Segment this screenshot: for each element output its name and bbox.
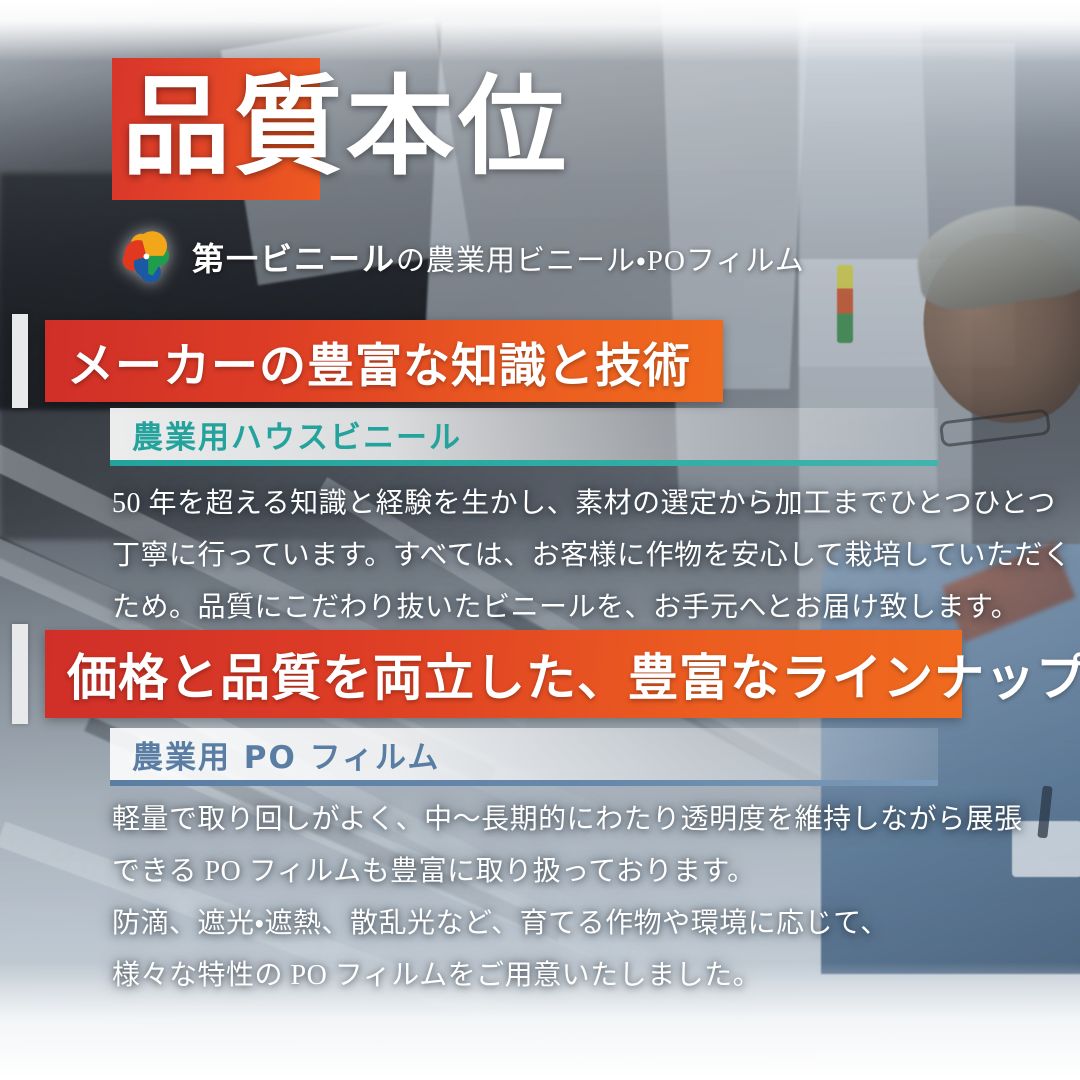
promo-content: 品質本位 第一ビニールの農業用ビニール・POフィルム メーカー bbox=[0, 0, 1080, 1080]
subsection-header-po-film: 農業用 PO フィルム bbox=[110, 728, 938, 780]
section-body-po-film: 軽量で取り回しがよく、中〜長期的にわたり透明度を維持しながら展張 できる PO … bbox=[112, 794, 974, 1002]
title-text: 品質本位 bbox=[112, 58, 570, 200]
body-line: 丁寧に行っています。すべては、お客様に作物を安心して栽培していただく bbox=[112, 530, 974, 582]
section-banner-lineup: 価格と品質を両立した、豊富なラインナップ bbox=[45, 630, 962, 718]
body-line: ため。品質にこだわり抜いたビニールを、お手元へとお届け致します。 bbox=[112, 582, 974, 634]
body-line: できる PO フィルムも豊富に取り扱っております。 bbox=[112, 846, 974, 898]
banner-tick-mark bbox=[12, 314, 28, 408]
brand-line: 第一ビニールの農業用ビニール・POフィルム bbox=[118, 228, 805, 286]
section-banner-label: メーカーの豊富な知識と技術 bbox=[45, 327, 691, 396]
banner-tick-mark bbox=[12, 624, 28, 724]
section-banner-label: 価格と品質を両立した、豊富なラインナップ bbox=[45, 638, 1080, 710]
page-title: 品質本位 bbox=[112, 58, 570, 200]
subsection-underline-blue bbox=[110, 780, 938, 786]
subsection-header-house-vinyl: 農業用ハウスビニール bbox=[110, 408, 938, 460]
body-line: 防滴、遮光・遮熱、散乱光など、育てる作物や環境に応じて、 bbox=[112, 898, 974, 950]
promo-banner-canvas: 品質本位 第一ビニールの農業用ビニール・POフィルム メーカー bbox=[0, 0, 1080, 1080]
section-banner-knowledge: メーカーの豊富な知識と技術 bbox=[45, 320, 723, 402]
subsection-header-label: 農業用ハウスビニール bbox=[110, 412, 462, 457]
brand-name: 第一ビニール bbox=[192, 241, 396, 277]
body-line: 様々な特性の PO フィルムをご用意いたしました。 bbox=[112, 950, 974, 1002]
pinwheel-flower-logo-icon bbox=[118, 228, 176, 286]
subsection-header-label: 農業用 PO フィルム bbox=[110, 732, 440, 777]
brand-tagline: の農業用ビニール・POフィルム bbox=[396, 245, 805, 277]
body-line: 50 年を超える知識と経験を生かし、素材の選定から加工までひとつひとつ bbox=[112, 478, 974, 530]
brand-text: 第一ビニールの農業用ビニール・POフィルム bbox=[192, 234, 805, 280]
subsection-underline-teal bbox=[110, 460, 938, 466]
body-line: 軽量で取り回しがよく、中〜長期的にわたり透明度を維持しながら展張 bbox=[112, 794, 974, 846]
section-body-house-vinyl: 50 年を超える知識と経験を生かし、素材の選定から加工までひとつひとつ 丁寧に行… bbox=[112, 478, 974, 634]
